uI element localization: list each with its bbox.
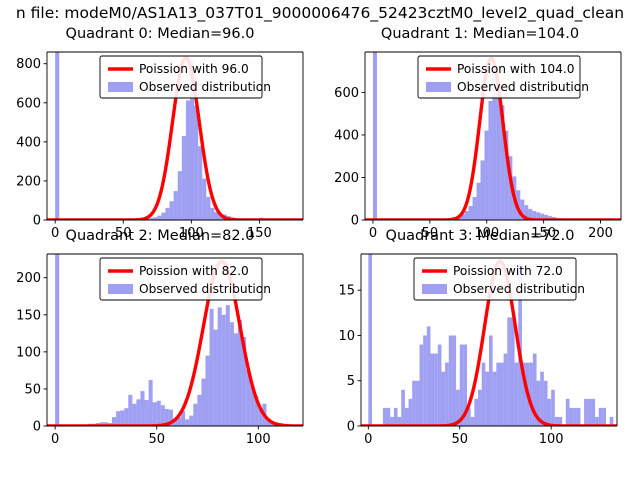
- histogram-bar: [218, 307, 222, 426]
- histogram-bar: [452, 335, 456, 426]
- histogram-bar: [504, 354, 508, 426]
- legend-label-observed: Observed distribution: [457, 80, 589, 94]
- legend-label-poisson: Poission with 104.0: [457, 62, 575, 76]
- legend-swatch-observed: [108, 284, 133, 294]
- x-tick-label: 0: [51, 432, 59, 447]
- histogram-bar: [548, 399, 552, 426]
- histogram-bar: [449, 335, 453, 426]
- histogram-bar: [488, 101, 492, 220]
- histogram-bar: [149, 380, 153, 426]
- histogram-bar: [445, 363, 449, 426]
- subplot-quadrant-0: Quadrant 0: Median=96.0 0501001500200400…: [0, 24, 320, 240]
- histogram-bar: [507, 317, 511, 426]
- histogram-bar: [186, 100, 190, 220]
- histogram-bar: [401, 390, 405, 426]
- chart-quadrant-0: 0501001500200400600800Poission with 96.0…: [0, 24, 320, 240]
- histogram-bar: [493, 372, 497, 426]
- histogram-bar: [474, 399, 478, 426]
- histogram-bar: [405, 408, 409, 426]
- y-tick-label: 400: [334, 128, 359, 143]
- subplot-quadrant-3: Quadrant 3: Median=72.0 050100051015Pois…: [320, 224, 640, 448]
- subplot-title-quadrant-3: Quadrant 3: Median=72.0: [320, 228, 640, 244]
- histogram-bar: [189, 416, 193, 426]
- histogram-bar: [161, 405, 165, 426]
- histogram-bar: [174, 191, 178, 220]
- histogram-bar: [469, 206, 473, 220]
- histogram-bar: [182, 136, 186, 220]
- y-tick-label: 0: [347, 420, 355, 435]
- y-tick-label: 600: [16, 96, 41, 111]
- legend-label-observed: Observed distribution: [139, 282, 271, 296]
- histogram-bar: [373, 52, 377, 220]
- histogram-bar: [214, 330, 218, 426]
- y-tick-label: 400: [16, 135, 41, 150]
- y-tick-label: 150: [16, 308, 41, 323]
- histogram-bar: [194, 106, 198, 220]
- histogram-bar: [566, 399, 570, 426]
- histogram-bar: [120, 410, 124, 426]
- histogram-bar: [423, 335, 427, 426]
- histogram-bar: [544, 381, 548, 426]
- histogram-bar: [584, 399, 588, 426]
- histogram-bar: [153, 402, 157, 426]
- legend: Poission with 82.0Observed distribution: [100, 258, 271, 300]
- histogram-bar: [438, 345, 442, 426]
- histogram-bar: [128, 395, 132, 426]
- legend-label-poisson: Poission with 96.0: [139, 62, 249, 76]
- legend-label-observed: Observed distribution: [139, 80, 271, 94]
- histogram-bar: [116, 411, 120, 426]
- x-tick-label: 100: [246, 432, 271, 447]
- histogram-bar: [197, 395, 201, 426]
- histogram-bar: [161, 213, 165, 220]
- histogram-bar: [465, 211, 469, 220]
- x-tick-label: 50: [451, 432, 468, 447]
- subplot-title-quadrant-0: Quadrant 0: Median=96.0: [0, 26, 320, 42]
- histogram-bar: [145, 400, 149, 426]
- histogram-bar: [480, 160, 484, 220]
- histogram-bar: [409, 399, 413, 426]
- x-tick-label: 50: [148, 432, 165, 447]
- y-tick-label: 100: [16, 345, 41, 360]
- legend-label-poisson: Poission with 72.0: [453, 264, 563, 278]
- histogram-bar: [394, 408, 398, 426]
- y-tick-label: 0: [33, 420, 41, 435]
- histogram-bar: [55, 52, 59, 220]
- histogram-bar: [165, 208, 169, 220]
- subplot-title-quadrant-1: Quadrant 1: Median=104.0: [320, 26, 640, 42]
- x-tick-label: 100: [539, 432, 564, 447]
- histogram-bar: [478, 390, 482, 426]
- histogram-bar: [489, 335, 493, 426]
- histogram-bar: [434, 354, 438, 426]
- legend-label-observed: Observed distribution: [453, 282, 585, 296]
- histogram-bar: [230, 322, 234, 426]
- histogram-bar: [185, 419, 189, 426]
- histogram-bar: [551, 390, 555, 426]
- y-tick-label: 200: [16, 271, 41, 286]
- histogram-bar: [482, 363, 486, 426]
- histogram-bar: [368, 254, 372, 426]
- histogram-bar: [540, 372, 544, 426]
- histogram-bar: [210, 208, 214, 220]
- histogram-bar: [198, 146, 202, 220]
- histogram-bar: [205, 356, 209, 426]
- chart-quadrant-1: 0501001502000200400600Poission with 104.…: [320, 24, 640, 240]
- legend: Poission with 72.0Observed distribution: [414, 258, 585, 300]
- chart-quadrant-2: 050100050100150200Poission with 82.0Obse…: [0, 224, 320, 448]
- histogram-bar: [484, 131, 488, 220]
- legend-swatch-observed: [426, 82, 451, 92]
- suptitle-text: n file: modeM0/AS1A13_037T01_9000006476_…: [16, 4, 624, 22]
- histogram-bar: [473, 197, 477, 220]
- histogram-bar: [132, 404, 136, 426]
- y-tick-label: 15: [338, 284, 355, 299]
- histogram-bar: [591, 399, 595, 426]
- histogram-bar: [157, 401, 161, 426]
- histogram-bar: [588, 399, 592, 426]
- histogram-bar: [511, 317, 515, 426]
- histogram-bar: [206, 197, 210, 220]
- histogram-bar: [178, 171, 182, 220]
- histogram-bar: [210, 309, 214, 426]
- histogram-bar: [55, 254, 59, 426]
- histogram-bar: [124, 408, 128, 426]
- histogram-bar: [430, 354, 434, 426]
- histogram-bar: [599, 408, 603, 426]
- legend-swatch-observed: [422, 284, 447, 294]
- histogram-bar: [140, 391, 144, 426]
- y-tick-label: 200: [334, 171, 359, 186]
- histogram-bar: [202, 179, 206, 220]
- histogram-bar: [170, 201, 174, 220]
- histogram-bar: [427, 326, 431, 426]
- histogram-bar: [569, 408, 573, 426]
- histogram-bar: [234, 333, 238, 426]
- subplot-title-quadrant-2: Quadrant 2: Median=82.0: [0, 228, 320, 244]
- y-tick-label: 5: [347, 374, 355, 389]
- figure-suptitle: n file: modeM0/AS1A13_037T01_9000006476_…: [0, 4, 640, 22]
- histogram-bar: [602, 408, 606, 426]
- histogram-bar: [193, 404, 197, 426]
- histogram-bar: [515, 363, 519, 426]
- y-tick-label: 50: [24, 382, 41, 397]
- y-tick-label: 10: [338, 329, 355, 344]
- histogram-bar: [412, 381, 416, 426]
- histogram-bar: [577, 408, 581, 426]
- histogram-bar: [157, 216, 161, 220]
- histogram-bar: [496, 363, 500, 426]
- histogram-bar: [477, 183, 481, 220]
- histogram-bar: [471, 417, 475, 426]
- histogram-bar: [485, 372, 489, 426]
- histogram-bar: [387, 408, 391, 426]
- legend: Poission with 96.0Observed distribution: [100, 56, 271, 98]
- matplotlib-figure: n file: modeM0/AS1A13_037T01_9000006476_…: [0, 0, 640, 480]
- legend-label-poisson: Poission with 82.0: [139, 264, 249, 278]
- histogram-bar: [201, 379, 205, 426]
- y-tick-label: 200: [16, 174, 41, 189]
- y-tick-label: 600: [334, 86, 359, 101]
- histogram-bar: [500, 363, 504, 426]
- legend: Poission with 104.0Observed distribution: [418, 56, 589, 98]
- histogram-bar: [460, 345, 464, 426]
- histogram-bar: [573, 408, 577, 426]
- histogram-bar: [136, 399, 140, 426]
- legend-swatch-observed: [108, 82, 133, 92]
- histogram-bar: [420, 345, 424, 426]
- histogram-bar: [529, 363, 533, 426]
- histogram-bar: [226, 305, 230, 426]
- subplot-quadrant-1: Quadrant 1: Median=104.0 050100150200020…: [320, 24, 640, 240]
- histogram-bar: [383, 408, 387, 426]
- y-tick-label: 800: [16, 57, 41, 72]
- histogram-bar: [222, 315, 226, 426]
- x-tick-label: 0: [364, 432, 372, 447]
- subplot-quadrant-2: Quadrant 2: Median=82.0 0501000501001502…: [0, 224, 320, 448]
- chart-quadrant-3: 050100051015Poission with 72.0Observed d…: [320, 224, 640, 448]
- histogram-bar: [441, 372, 445, 426]
- histogram-bar: [416, 381, 420, 426]
